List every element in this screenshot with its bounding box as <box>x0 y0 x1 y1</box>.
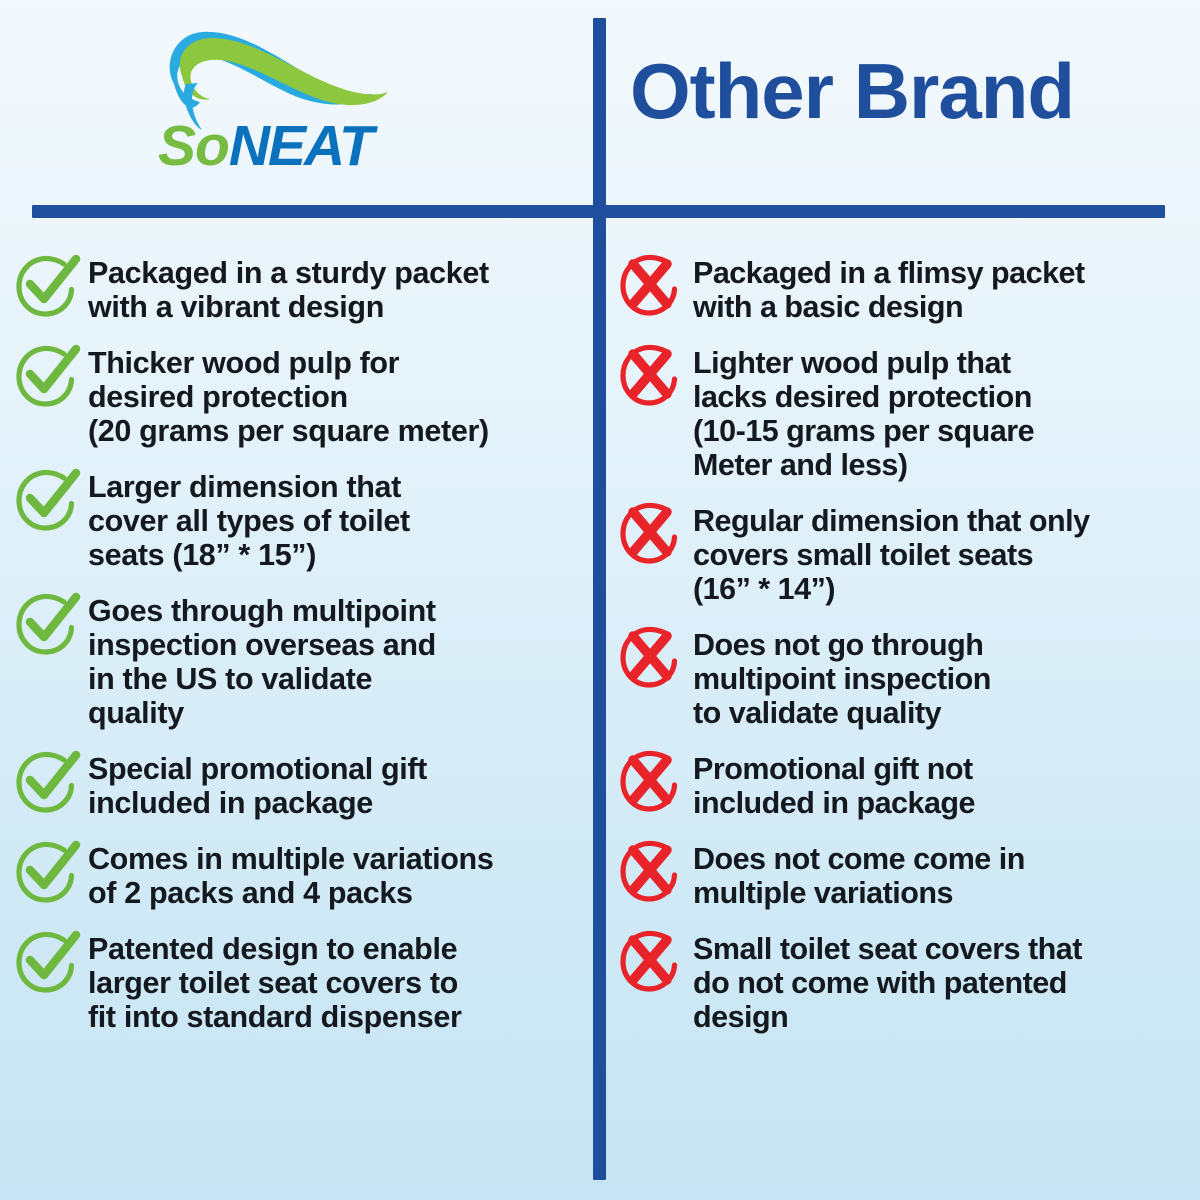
logo-neat-text: NEAT <box>229 114 372 178</box>
feature-text: Lighter wood pulp that lacks desired pro… <box>693 343 1192 482</box>
x-circle-icon <box>619 502 693 568</box>
check-circle-icon <box>14 930 88 996</box>
x-circle-icon <box>619 344 693 410</box>
list-item: Special promotional gift included in pac… <box>14 749 583 820</box>
list-item: Packaged in a sturdy packet with a vibra… <box>14 253 583 324</box>
x-circle-icon <box>619 626 693 692</box>
other-brand-title: Other Brand <box>630 52 1175 130</box>
feature-text: Does not go through multipoint inspectio… <box>693 625 1192 730</box>
feature-text: Special promotional gift included in pac… <box>88 749 583 820</box>
check-circle-icon <box>14 344 88 410</box>
check-circle-icon <box>14 750 88 816</box>
feature-text: Packaged in a sturdy packet with a vibra… <box>88 253 583 324</box>
feature-text: Promotional gift not included in package <box>693 749 1192 820</box>
list-item: Promotional gift not included in package <box>619 749 1192 820</box>
list-item: Regular dimension that only covers small… <box>619 501 1192 606</box>
feature-text: Does not come come in multiple variation… <box>693 839 1192 910</box>
list-item: Larger dimension that cover all types of… <box>14 467 583 572</box>
list-item: Thicker wood pulp for desired protection… <box>14 343 583 448</box>
list-item: Comes in multiple variations of 2 packs … <box>14 839 583 910</box>
soneat-brand-logo: SoNEAT <box>140 22 480 182</box>
list-item: Packaged in a flimsy packet with a basic… <box>619 253 1192 324</box>
list-item: Small toilet seat covers that do not com… <box>619 929 1192 1034</box>
list-item: Does not come come in multiple variation… <box>619 839 1192 910</box>
check-circle-icon <box>14 840 88 906</box>
feature-text: Comes in multiple variations of 2 packs … <box>88 839 583 910</box>
x-circle-icon <box>619 254 693 320</box>
feature-text: Regular dimension that only covers small… <box>693 501 1192 606</box>
check-circle-icon <box>14 468 88 534</box>
feature-text: Goes through multipoint inspection overs… <box>88 591 583 730</box>
list-item: Patented design to enable larger toilet … <box>14 929 583 1034</box>
feature-text: Small toilet seat covers that do not com… <box>693 929 1192 1034</box>
check-circle-icon <box>14 592 88 658</box>
x-circle-icon <box>619 840 693 906</box>
logo-so-text: So <box>158 114 229 178</box>
feature-text: Patented design to enable larger toilet … <box>88 929 583 1034</box>
feature-text: Larger dimension that cover all types of… <box>88 467 583 572</box>
brand-feature-column: Packaged in a sturdy packet with a vibra… <box>0 218 593 1200</box>
list-item: Does not go through multipoint inspectio… <box>619 625 1192 730</box>
comparison-columns: Packaged in a sturdy packet with a vibra… <box>0 218 1200 1200</box>
feature-text: Packaged in a flimsy packet with a basic… <box>693 253 1192 324</box>
soneat-wordmark: SoNEAT <box>158 118 372 175</box>
check-circle-icon <box>14 254 88 320</box>
x-circle-icon <box>619 750 693 816</box>
list-item: Goes through multipoint inspection overs… <box>14 591 583 730</box>
list-item: Lighter wood pulp that lacks desired pro… <box>619 343 1192 482</box>
competitor-feature-column: Packaged in a flimsy packet with a basic… <box>593 218 1200 1200</box>
feature-text: Thicker wood pulp for desired protection… <box>88 343 583 448</box>
x-circle-icon <box>619 930 693 996</box>
